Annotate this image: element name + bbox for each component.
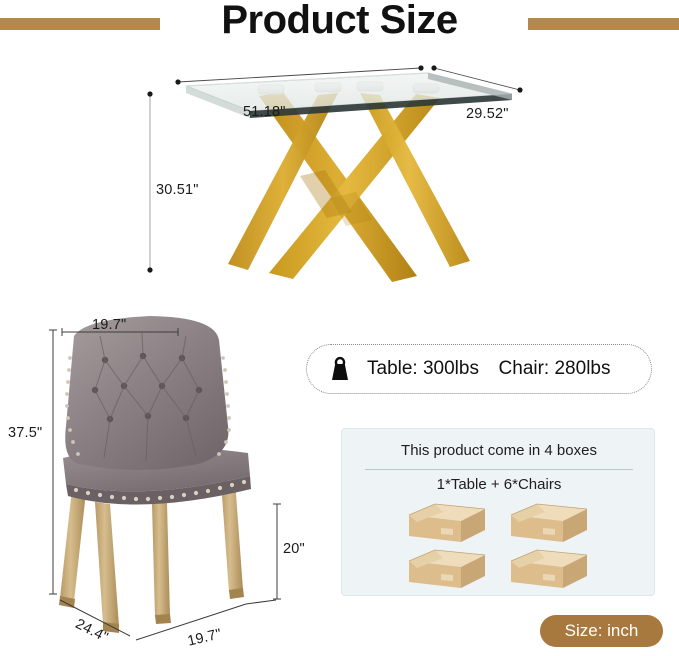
chair-weight-label: Chair: 280lbs xyxy=(499,358,611,379)
dining-chair-drawing xyxy=(0,306,320,656)
weight-capacity-text: Table: 300lbs Chair: 280lbs xyxy=(367,358,610,380)
weight-capacity-badge: Table: 300lbs Chair: 280lbs xyxy=(306,344,652,394)
carton-box-icon xyxy=(405,547,489,591)
chair-back xyxy=(65,316,228,470)
table-glass-top xyxy=(186,73,512,118)
header: Product Size xyxy=(0,0,679,48)
chair-top-width-label: 19.7" xyxy=(92,317,126,333)
table-illustration-block: 51.18" 29.52" 30.51" xyxy=(0,48,679,306)
packaging-panel: This product come in 4 boxes 1*Table + 6… xyxy=(341,428,655,596)
size-unit-badge: Size: inch xyxy=(540,615,663,647)
packaging-contents: 1*Table + 6*Chairs xyxy=(342,476,656,493)
table-height-label: 30.51" xyxy=(156,182,199,198)
carton-box-icon xyxy=(507,501,591,545)
size-unit-label: Size: inch xyxy=(565,621,639,641)
table-legs xyxy=(228,92,470,282)
packaging-title: This product come in 4 boxes xyxy=(342,442,656,459)
chair-illustration-block: 19.7" 37.5" 20" 24.4" 19.7" xyxy=(0,306,320,656)
packaging-divider xyxy=(365,469,633,470)
table-weight-label: Table: 300lbs xyxy=(367,358,479,379)
weight-icon xyxy=(325,354,355,384)
table-width-label: 51.18" xyxy=(243,104,286,120)
product-size-infographic: Product Size xyxy=(0,0,679,656)
carton-box-icon xyxy=(507,547,591,591)
table-depth-label: 29.52" xyxy=(466,106,509,122)
page-title: Product Size xyxy=(0,0,679,44)
packaging-box-grid xyxy=(399,501,599,589)
carton-box-icon xyxy=(405,501,489,545)
chair-height-label: 37.5" xyxy=(8,425,42,441)
glass-table-drawing xyxy=(0,48,679,306)
chair-seat-height-label: 20" xyxy=(283,541,305,557)
